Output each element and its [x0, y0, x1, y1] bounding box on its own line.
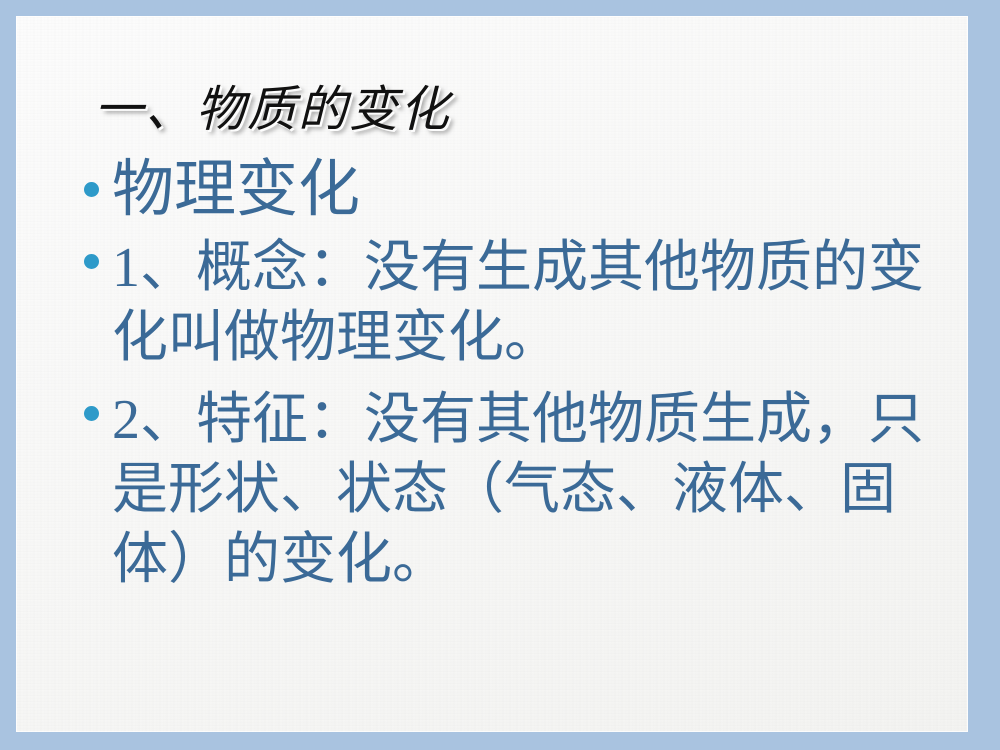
slide-title: 一、物质的变化	[94, 84, 914, 135]
bullet-item-concept: 1、概念：没有生成其他物质的变化叫做物理变化。	[72, 233, 952, 373]
bullet-item-text: 1、概念：没有生成其他物质的变化叫做物理变化。	[112, 233, 952, 373]
bullet-dot-icon	[84, 254, 99, 269]
bullet-list: 物理变化 1、概念：没有生成其他物质的变化叫做物理变化。 2、特征：没有其他物质…	[72, 158, 952, 595]
bullet-dot-icon	[84, 182, 99, 197]
bullet-item-text: 2、特征：没有其他物质生成，只是形状、状态（气态、液体、固体）的变化。	[112, 385, 952, 595]
bullet-item-text: 物理变化	[112, 158, 952, 223]
bullet-dot-icon	[84, 406, 99, 421]
slide-canvas: 一、物质的变化 物理变化 1、概念：没有生成其他物质的变化叫做物理变化。 2、特…	[16, 16, 968, 732]
bullet-item-characteristic: 2、特征：没有其他物质生成，只是形状、状态（气态、液体、固体）的变化。	[72, 385, 952, 595]
bullet-item-physical-change: 物理变化	[72, 158, 952, 223]
slide-frame: 一、物质的变化 物理变化 1、概念：没有生成其他物质的变化叫做物理变化。 2、特…	[0, 0, 1000, 750]
